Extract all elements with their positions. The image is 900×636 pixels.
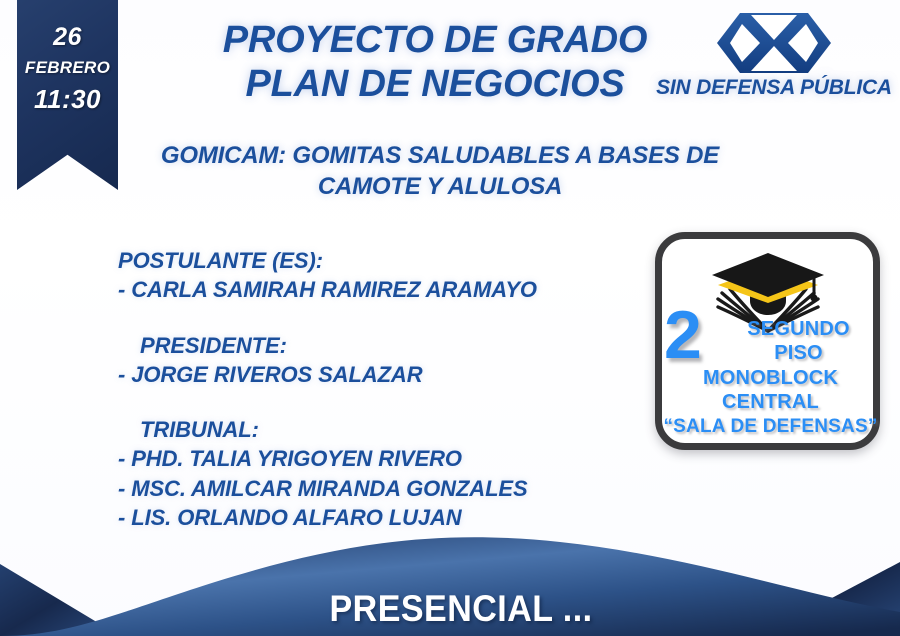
modality-label: PRESENCIAL ... [36, 588, 864, 630]
subtitle-line-2: CAMOTE Y ALULOSA [318, 173, 562, 200]
ribbon-day: 26 [17, 24, 118, 52]
institution-logo-block: SIN DEFENSA PÚBLICA [654, 12, 894, 100]
group-label-presidente: PRESIDENTE: [118, 331, 638, 360]
group-presidente: PRESIDENTE: - JORGE RIVEROS SALAZAR [118, 331, 638, 390]
page-title: PROYECTO DE GRADO PLAN DE NEGOCIOS [150, 18, 720, 107]
group-label-tribunal: TRIBUNAL: [118, 415, 638, 444]
subtitle-line-1: GOMICAM: GOMITAS SALUDABLES A BASES DE [161, 142, 719, 169]
location-line-2: PISO [662, 341, 879, 365]
title-line-2: PLAN DE NEGOCIOS [150, 62, 720, 106]
title-line-1: PROYECTO DE GRADO [223, 19, 648, 61]
ribbon-time: 11:30 [17, 84, 118, 115]
location-line-4: CENTRAL [662, 390, 879, 414]
group-label-postulante: POSTULANTE (ES): [118, 246, 638, 275]
participants-list: POSTULANTE (ES): - CARLA SAMIRAH RAMIREZ… [118, 246, 638, 532]
location-line-5: “SALA DE DEFENSAS” [662, 415, 879, 438]
project-subtitle: GOMICAM: GOMITAS SALUDABLES A BASES DE C… [150, 140, 730, 202]
location-line-1: SEGUNDO [662, 317, 879, 341]
location-badge: 2 SEGUNDO PISO MONOBLOCK CENTRAL “SALA D… [655, 232, 880, 450]
logo-caption: SIN DEFENSA PÚBLICA [654, 76, 894, 100]
event-poster: 26 FEBRERO 11:30 PROYECTO DE GRADO PLAN … [0, 0, 900, 636]
list-item: - JORGE RIVEROS SALAZAR [118, 360, 638, 389]
location-text: SEGUNDO PISO MONOBLOCK CENTRAL “SALA DE … [662, 317, 879, 438]
date-ribbon-content: 26 FEBRERO 11:30 [17, 0, 118, 115]
list-item: - CARLA SAMIRAH RAMIREZ ARAMAYO [118, 275, 638, 304]
group-tribunal: TRIBUNAL: - PHD. TALIA YRIGOYEN RIVERO -… [118, 415, 638, 532]
list-item: - PHD. TALIA YRIGOYEN RIVERO [118, 444, 638, 473]
group-postulante: POSTULANTE (ES): - CARLA SAMIRAH RAMIREZ… [118, 246, 638, 305]
location-line-3: MONOBLOCK [662, 366, 879, 390]
hexagon-bowtie-logo-icon [716, 12, 832, 74]
footer-wave-decoration: PRESENCIAL ... [0, 516, 900, 636]
list-item: - MSC. AMILCAR MIRANDA GONZALES [118, 474, 638, 503]
ribbon-month: FEBRERO [17, 58, 118, 78]
date-ribbon: 26 FEBRERO 11:30 [17, 0, 118, 190]
